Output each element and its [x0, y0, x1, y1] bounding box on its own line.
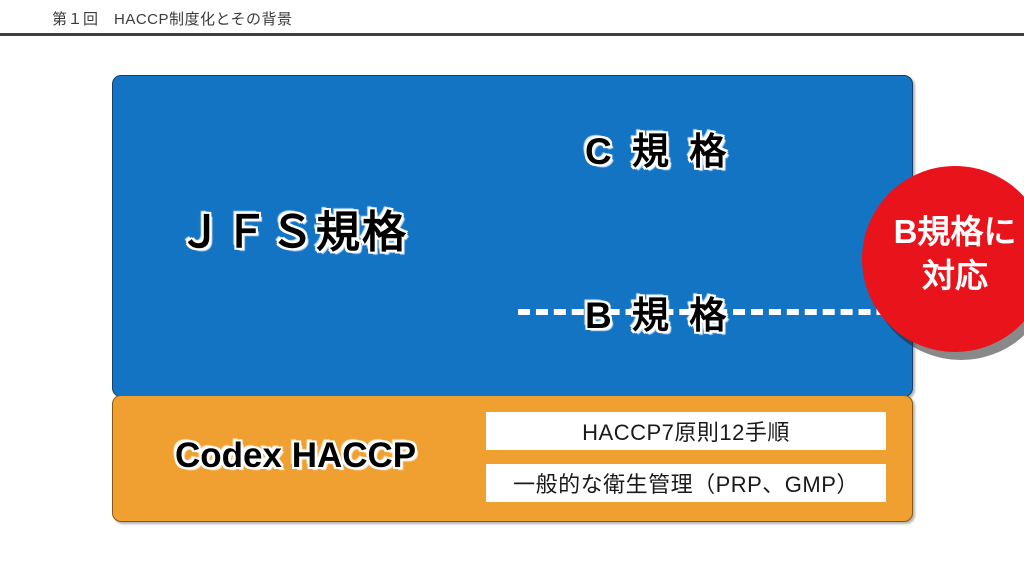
callout-text: B規格に 対応	[862, 210, 1024, 298]
callout-text-line2: 対応	[862, 254, 1024, 298]
b-grade-label: B 規 格	[585, 292, 731, 340]
jfs-standards-label: ＪＦＳ規格	[178, 205, 408, 261]
prerequisite-programs-chip: 一般的な衛生管理（PRP、GMP）	[486, 464, 886, 502]
haccp-principles-chip: HACCP7原則12手順	[486, 412, 886, 450]
c-grade-label: C 規 格	[585, 128, 731, 176]
b-grade-callout: B規格に 対応	[862, 166, 1024, 352]
haccp-standards-diagram: ＪＦＳ規格 C 規 格 B 規 格 Codex HACCP HACCP7原則12…	[0, 0, 1024, 576]
codex-haccp-label: Codex HACCP	[175, 433, 416, 479]
callout-text-line1: B規格に	[862, 210, 1024, 254]
